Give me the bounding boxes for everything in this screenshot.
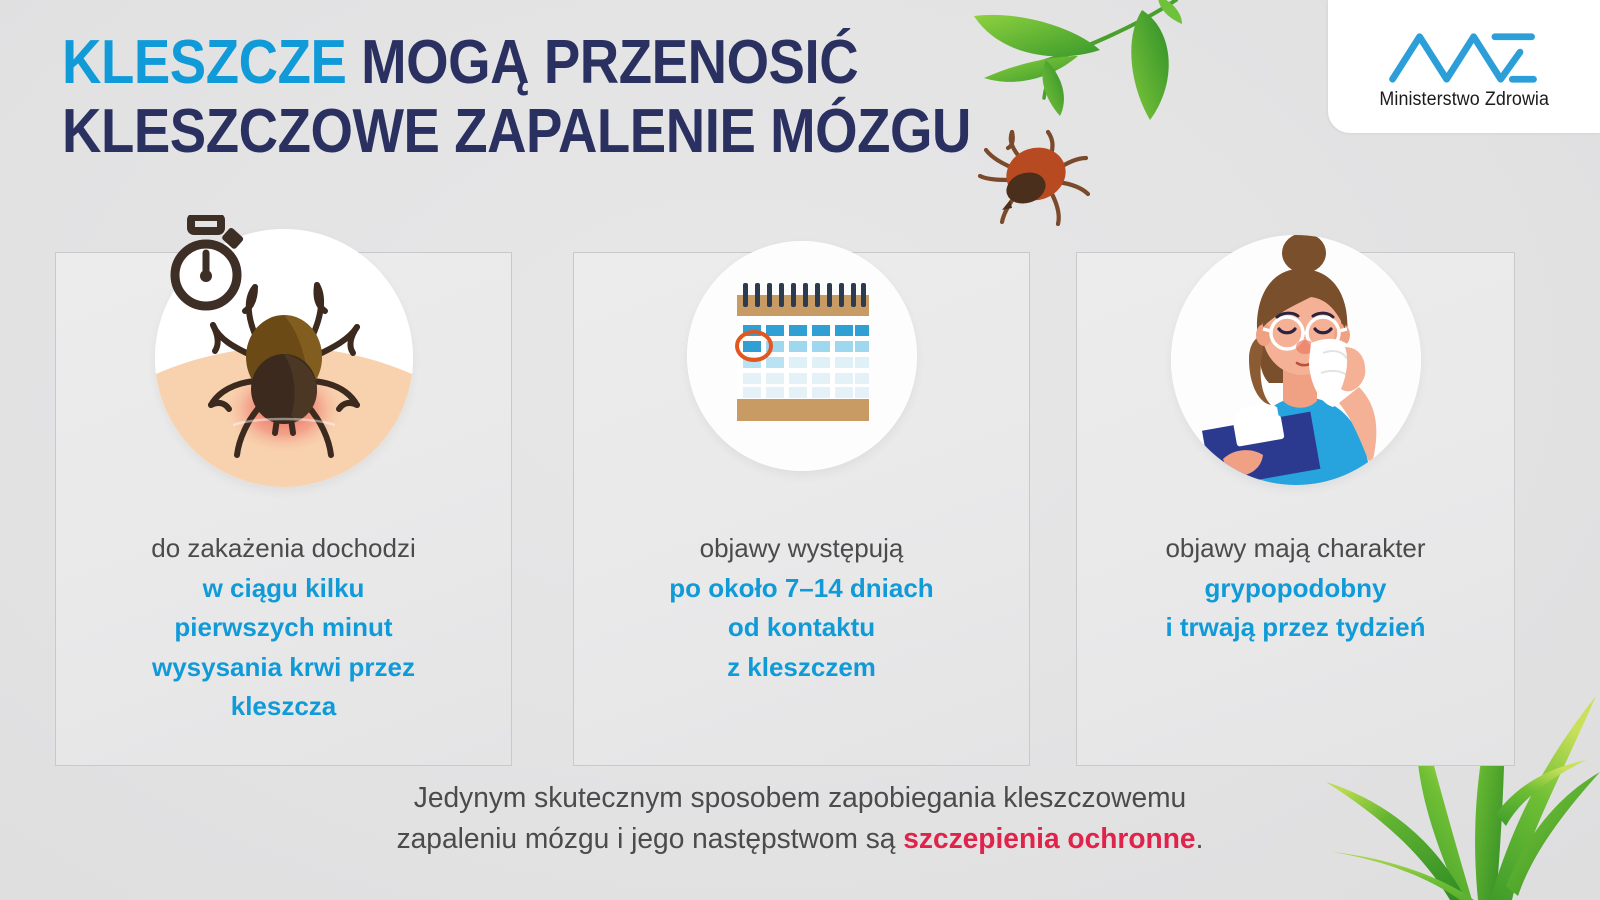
card-1-accent-line-3: wysysania krwi przez [72,648,495,688]
ministry-logo-text: Ministerstwo Zdrowia [1379,89,1549,111]
card-1-accent-line-4: kleszcza [72,687,495,727]
card-3-accent-line-1: grypopodobny [1093,569,1498,609]
card-3-plain-line: objawy mają charakter [1093,529,1498,569]
card-2-plain-line: objawy występują [590,529,1013,569]
card-2-media [574,229,1029,509]
footer-line-2: zapaleniu mózgu i jego następstwom są sz… [24,819,1576,860]
fact-card-1: do zakażenia dochodzi w ciągu kilku pier… [55,252,512,766]
stopwatch-icon [160,215,252,313]
card-2-accent-line-2: od kontaktu [590,608,1013,648]
card-1-accent-line-2: pierwszych minut [72,608,495,648]
sick-woman-tissue-illustration-icon [1171,235,1421,485]
headline-line-1-rest: MOGĄ PRZENOSIĆ [346,28,858,97]
card-1-text: do zakażenia dochodzi w ciągu kilku pier… [56,529,511,727]
card-2-accent-line-1: po około 7–14 dniach [590,569,1013,609]
footer-highlight: szczepienia ochronne [903,823,1195,855]
card-3-text: objawy mają charakter grypopodobny i trw… [1077,529,1514,648]
card-2-accent-line-3: z kleszczem [590,648,1013,688]
headline-accent-word: KLESZCZE [62,28,346,97]
page-title: KLESZCZE MOGĄ PRZENOSIĆ KLESZCZOWE ZAPAL… [62,28,836,167]
fact-cards: do zakażenia dochodzi w ciągu kilku pier… [55,252,1515,766]
headline-line-2: KLESZCZOWE ZAPALENIE MÓZGU [62,97,836,166]
footer-line-2-before: zapaleniu mózgu i jego następstwom są [397,823,904,855]
card-3-accent-line-2: i trwają przez tydzień [1093,608,1498,648]
mz-zigzag-icon [1386,29,1542,85]
fact-card-3: objawy mają charakter grypopodobny i trw… [1076,252,1515,766]
ministry-logo-panel: Ministerstwo Zdrowia [1328,0,1600,133]
card-2-text: objawy występują po około 7–14 dniach od… [574,529,1029,687]
tick-illustration-icon [968,118,1108,228]
infographic-canvas: KLESZCZE MOGĄ PRZENOSIĆ KLESZCZOWE ZAPAL… [0,0,1600,900]
card-1-plain-line: do zakażenia dochodzi [72,529,495,569]
card-3-media [1077,229,1514,509]
footer-line-2-after: . [1196,823,1204,855]
footer-line-1: Jedynym skutecznym sposobem zapobiegania… [24,778,1576,819]
fact-card-2: objawy występują po około 7–14 dniach od… [573,252,1030,766]
headline-line-1: KLESZCZE MOGĄ PRZENOSIĆ [62,28,836,97]
card-1-media [56,229,511,509]
footer-note: Jedynym skutecznym sposobem zapobiegania… [24,778,1576,860]
card-1-accent-line-1: w ciągu kilku [72,569,495,609]
calendar-illustration-icon [687,241,917,471]
green-leaf-branch-icon [928,0,1228,144]
